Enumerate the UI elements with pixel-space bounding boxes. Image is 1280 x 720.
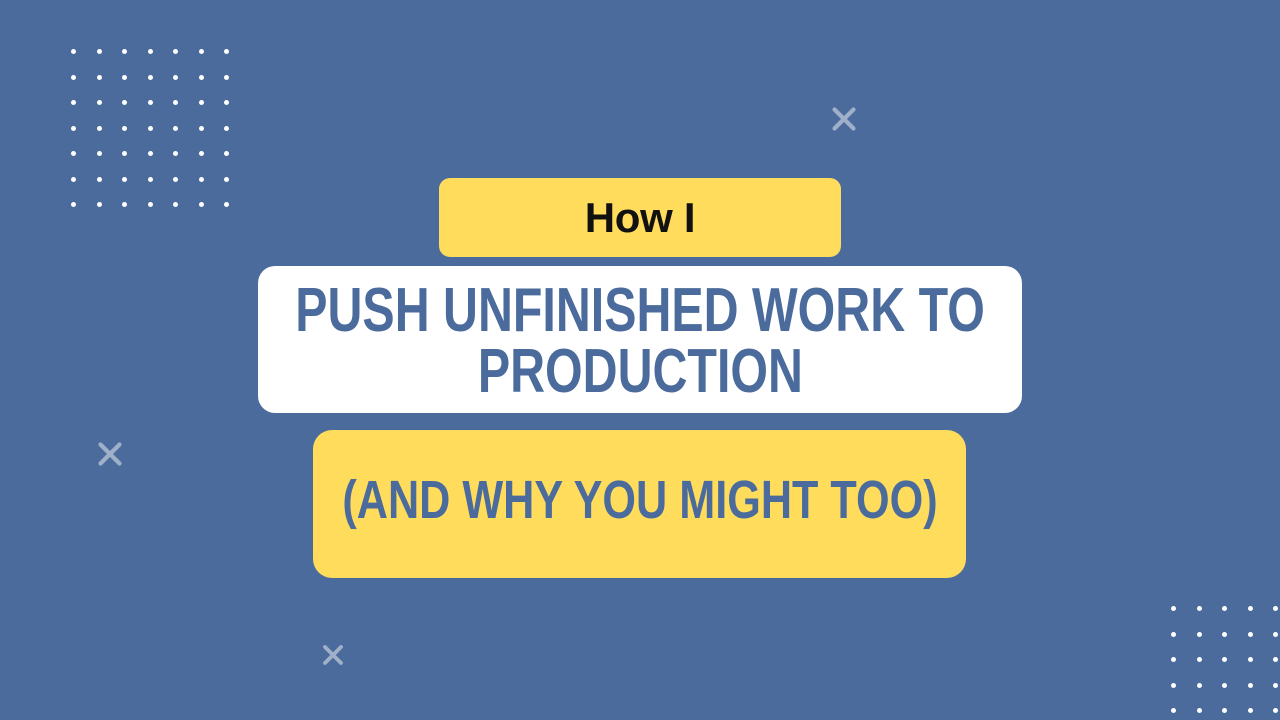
grid-dot [1248,683,1253,688]
grid-dot [148,202,153,207]
grid-dot [122,75,127,80]
grid-dot [1171,657,1176,662]
grid-dot [1248,657,1253,662]
grid-dot [173,75,178,80]
grid-dot [1197,683,1202,688]
grid-dot [148,126,153,131]
grid-dot [122,100,127,105]
grid-dot [1273,683,1278,688]
grid-dot [224,202,229,207]
grid-dot [1171,606,1176,611]
grid-dot [173,177,178,182]
grid-dot [1273,632,1278,637]
grid-dot [1222,683,1227,688]
x-mark-icon [97,441,123,467]
grid-dot [148,177,153,182]
dot-grid-top-left [71,49,229,207]
grid-dot [71,202,76,207]
grid-dot [224,49,229,54]
grid-dot [148,151,153,156]
headline-line-2: PRODUCTION [477,342,802,402]
grid-dot [1171,683,1176,688]
subline-text: (AND WHY YOU MIGHT TOO) [342,473,937,527]
grid-dot [71,75,76,80]
grid-dot [97,49,102,54]
grid-dot [71,49,76,54]
grid-dot [97,151,102,156]
grid-dot [122,126,127,131]
grid-dot [173,151,178,156]
grid-dot [1248,606,1253,611]
grid-dot [224,126,229,131]
grid-dot [173,126,178,131]
headline-banner: PUSH UNFINISHED WORK TO PRODUCTION [258,266,1022,413]
grid-dot [173,49,178,54]
poster-canvas: How I PUSH UNFINISHED WORK TO PRODUCTION… [0,0,1280,720]
grid-dot [1197,708,1202,713]
grid-dot [97,100,102,105]
headline-line-1: PUSH UNFINISHED WORK TO [295,281,985,341]
grid-dot [71,177,76,182]
grid-dot [1222,708,1227,713]
grid-dot [97,126,102,131]
kicker-banner: How I [439,178,841,257]
grid-dot [1197,632,1202,637]
grid-dot [199,202,204,207]
grid-dot [199,100,204,105]
grid-dot [224,151,229,156]
grid-dot [1273,606,1278,611]
grid-dot [1273,708,1278,713]
grid-dot [224,75,229,80]
x-mark-icon [322,644,344,666]
grid-dot [199,75,204,80]
grid-dot [122,177,127,182]
dot-grid-bottom-right [1171,606,1278,713]
grid-dot [199,49,204,54]
x-mark-icon [831,106,857,132]
grid-dot [1222,632,1227,637]
grid-dot [173,202,178,207]
grid-dot [1273,657,1278,662]
grid-dot [224,177,229,182]
kicker-text: How I [585,194,696,242]
grid-dot [1197,657,1202,662]
grid-dot [97,177,102,182]
grid-dot [1222,657,1227,662]
grid-dot [199,126,204,131]
grid-dot [148,100,153,105]
grid-dot [71,151,76,156]
grid-dot [71,126,76,131]
grid-dot [122,202,127,207]
grid-dot [173,100,178,105]
grid-dot [1171,708,1176,713]
grid-dot [1248,708,1253,713]
subline-banner: (AND WHY YOU MIGHT TOO) [313,430,966,578]
grid-dot [224,100,229,105]
grid-dot [1248,632,1253,637]
grid-dot [71,100,76,105]
grid-dot [97,75,102,80]
grid-dot [148,75,153,80]
grid-dot [1197,606,1202,611]
grid-dot [1222,606,1227,611]
grid-dot [148,49,153,54]
grid-dot [1171,632,1176,637]
grid-dot [199,151,204,156]
grid-dot [97,202,102,207]
grid-dot [122,49,127,54]
grid-dot [199,177,204,182]
grid-dot [122,151,127,156]
